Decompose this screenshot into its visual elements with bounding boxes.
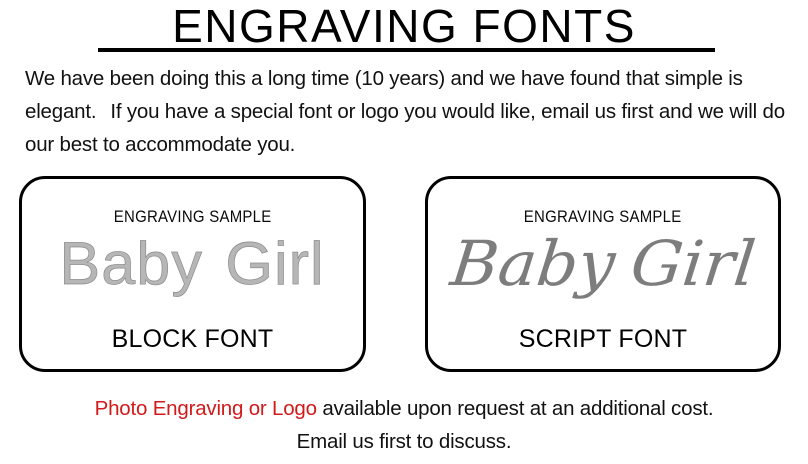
intro-line-1: We have been doing this a long time (10 … xyxy=(25,67,659,90)
font-name-label-block: BLOCK FONT xyxy=(22,325,363,353)
sample-inner-script: ENGRAVING SAMPLE BabyGirl SCRIPT FONT xyxy=(428,179,778,369)
intro-paragraph: We have been doing this a long time (10 … xyxy=(25,62,787,161)
intro-line-2b: If you have a special font or logo you w… xyxy=(110,100,616,123)
sample-inner-block: ENGRAVING SAMPLE BabyGirl BLOCK FONT xyxy=(22,179,363,369)
footer-line-2: Email us first to discuss. xyxy=(0,425,808,458)
sample-word-block-second: Girl xyxy=(226,230,325,297)
sample-box-block-font: ENGRAVING SAMPLE BabyGirl BLOCK FONT xyxy=(19,176,366,372)
title-block: ENGRAVING FONTS xyxy=(0,2,808,50)
sample-box-script-font: ENGRAVING SAMPLE BabyGirl SCRIPT FONT xyxy=(425,176,781,372)
footer-note: Photo Engraving or Logo available upon r… xyxy=(0,392,808,458)
engraving-fonts-page: ENGRAVING FONTS We have been doing this … xyxy=(0,0,808,464)
footer-highlight-text: Photo Engraving or Logo xyxy=(95,397,317,420)
engraving-sample-caption-block: ENGRAVING SAMPLE xyxy=(114,207,272,226)
font-name-label-script: SCRIPT FONT xyxy=(428,325,778,353)
sample-word-block-font: BabyGirl xyxy=(60,228,325,300)
title-underline-rule xyxy=(98,48,715,52)
sample-word-block-first: Baby xyxy=(60,230,204,297)
sample-word-script-second: Girl xyxy=(627,227,759,300)
sample-word-script-font: BabyGirl xyxy=(447,224,760,304)
page-title: ENGRAVING FONTS xyxy=(0,2,808,50)
sample-word-script-first: Baby xyxy=(447,227,619,300)
footer-line-1: Photo Engraving or Logo available upon r… xyxy=(0,392,808,425)
footer-rest-text: available upon request at an additional … xyxy=(317,397,714,420)
